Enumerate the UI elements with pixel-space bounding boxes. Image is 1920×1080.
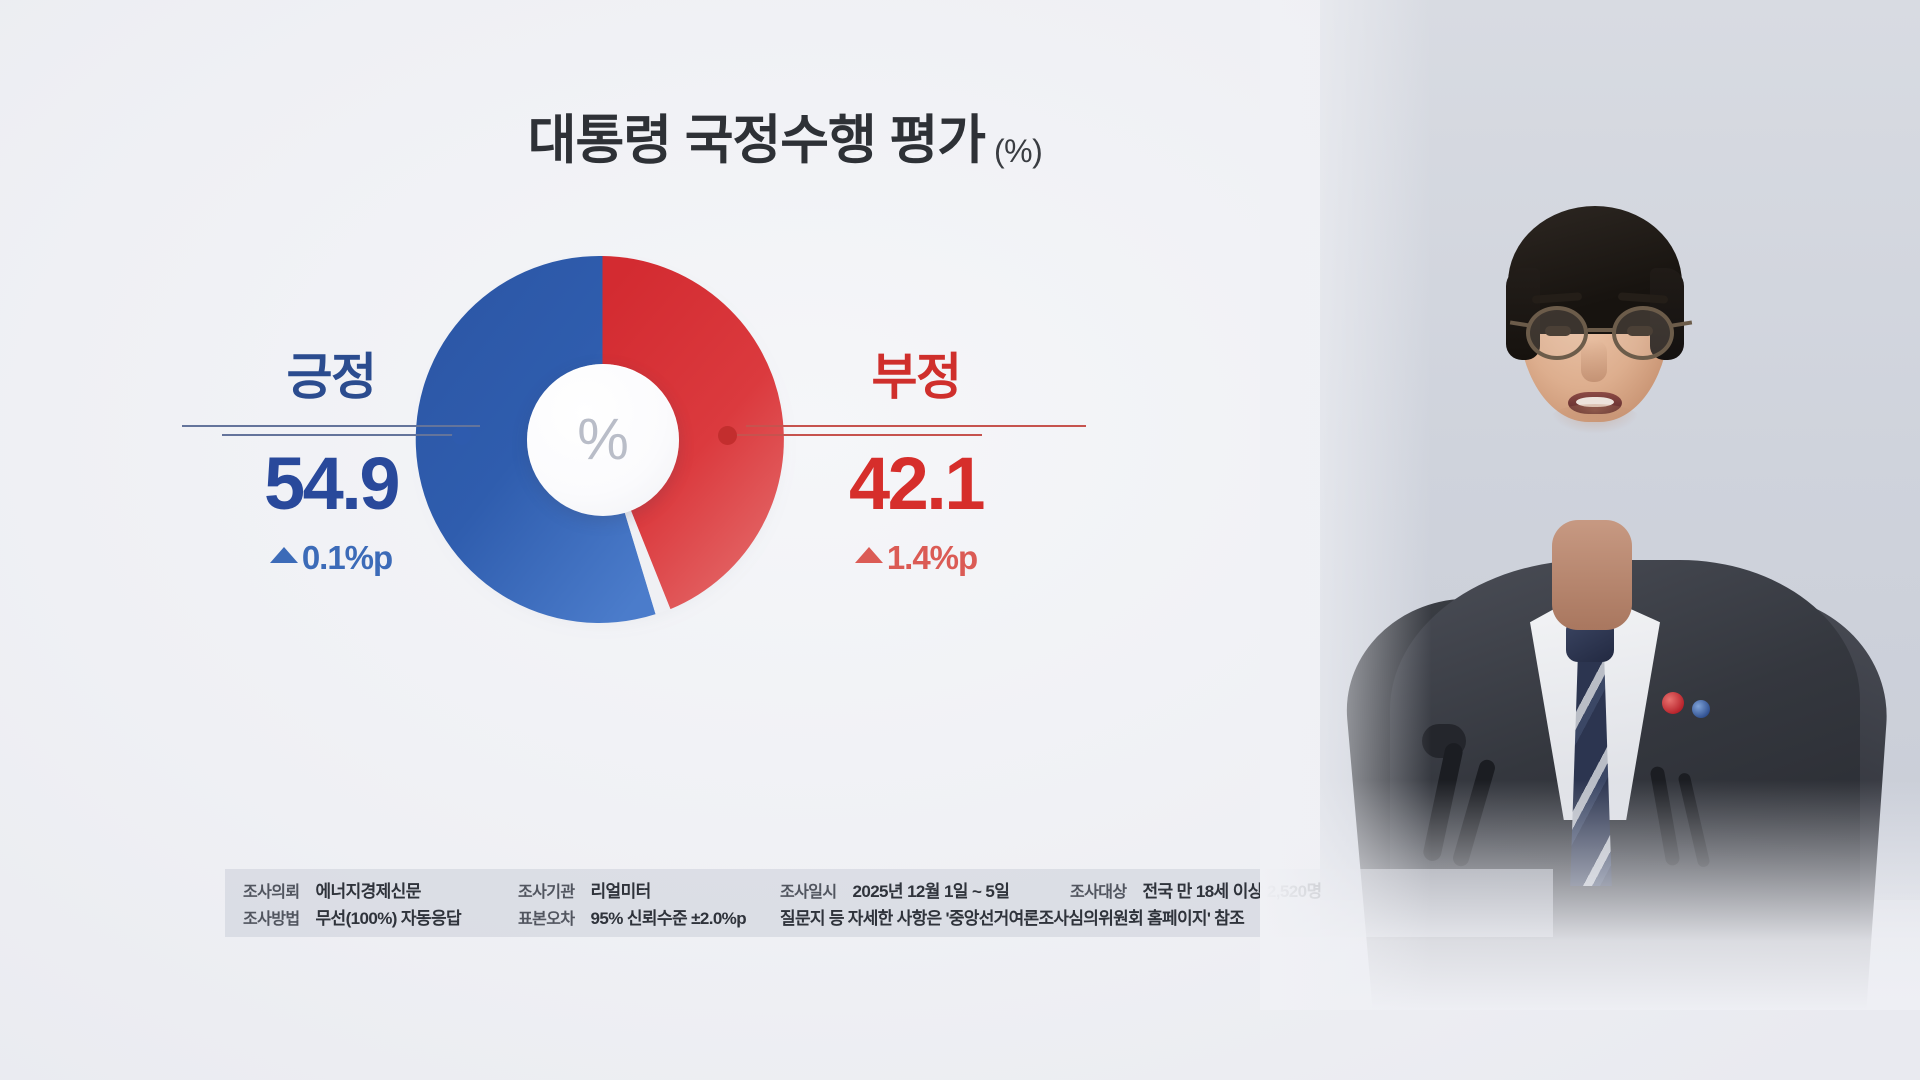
info-note: 질문지 등 자세한 사항은 '중앙선거여론조사심의위원회 홈페이지' 참조 [780, 904, 1244, 929]
positive-callout: 긍정 54.9 0.1%p [182, 352, 480, 574]
info-key: 표본오차 [518, 905, 574, 929]
info-value: 에너지경제신문 [315, 877, 420, 902]
donut-center-hub: % [527, 364, 679, 516]
negative-callout: 부정 42.1 1.4%p [746, 352, 1086, 574]
positive-rule [182, 425, 480, 427]
politician-photo [1260, 0, 1920, 1010]
info-value: 리얼미터 [590, 877, 650, 902]
positive-value: 54.9 [182, 447, 480, 521]
negative-rule [746, 425, 1086, 427]
positive-label: 긍정 [182, 352, 480, 402]
percent-symbol: % [577, 411, 628, 469]
info-value: 95% 신뢰수준 ±2.0%p [590, 904, 746, 929]
info-cell-margin: 표본오차 95% 신뢰수준 ±2.0%p [518, 904, 780, 929]
photo-left-fade [1260, 0, 1920, 1010]
info-key: 조사일시 [780, 878, 836, 902]
info-key: 조사의뢰 [243, 878, 299, 902]
negative-delta-text: 1.4%p [887, 541, 977, 574]
info-key: 조사대상 [1070, 878, 1126, 902]
positive-delta-text: 0.1%p [302, 541, 392, 574]
info-cell-method: 조사방법 무선(100%) 자동응답 [243, 904, 518, 929]
up-triangle-icon [270, 547, 298, 563]
connector-dot-negative [718, 426, 737, 445]
negative-label: 부정 [746, 352, 1086, 402]
info-value: 2025년 12월 1일 ~ 5일 [852, 877, 1009, 902]
up-triangle-icon [855, 547, 883, 563]
info-cell-client: 조사의뢰 에너지경제신문 [243, 877, 518, 902]
info-key: 조사기관 [518, 878, 574, 902]
infographic-stage: 대통령 국정수행 평가(%) [0, 0, 1920, 1080]
title-text: 대통령 국정수행 평가 [528, 98, 985, 174]
info-value: 무선(100%) 자동응답 [315, 904, 461, 929]
info-cell-agency: 조사기관 리얼미터 [518, 877, 780, 902]
negative-value: 42.1 [746, 447, 1086, 521]
info-cell-note: 질문지 등 자세한 사항은 '중앙선거여론조사심의위원회 홈페이지' 참조 [780, 904, 1244, 929]
negative-delta: 1.4%p [746, 541, 1086, 574]
info-key: 조사방법 [243, 905, 299, 929]
positive-delta: 0.1%p [182, 541, 480, 574]
info-cell-date: 조사일시 2025년 12월 1일 ~ 5일 [780, 877, 1070, 902]
title-unit: (%) [994, 133, 1042, 170]
